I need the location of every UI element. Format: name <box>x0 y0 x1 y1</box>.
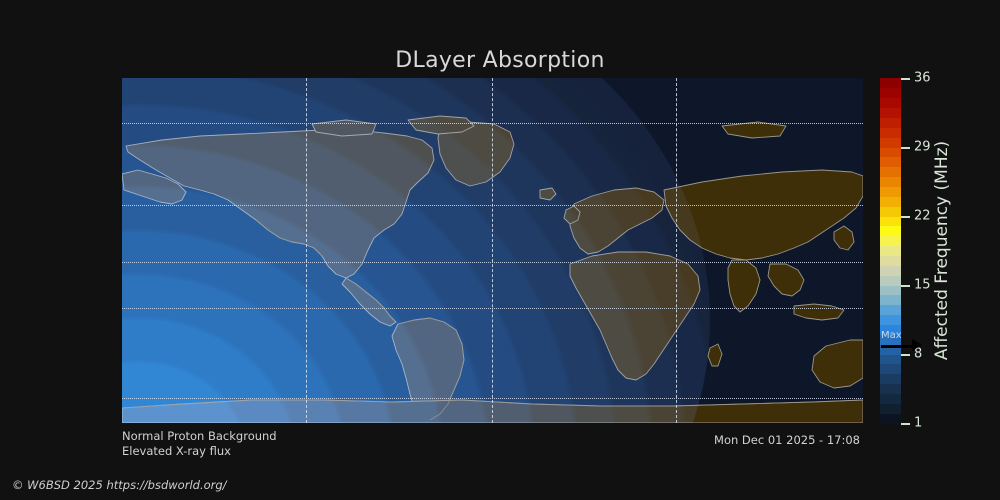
colorbar-tick-mark <box>901 147 910 149</box>
dlayer-absorption-map-page: DLayer Absorption <box>0 0 1000 500</box>
colorbar-tick-mark <box>901 423 910 425</box>
max-marker-arrow-head <box>912 339 922 351</box>
colorbar-tick-label: 1 <box>914 416 922 431</box>
max-marker-label: Max <box>881 330 902 341</box>
colorbar-tick-label: 22 <box>914 209 931 224</box>
copyright-notice[interactable]: © W6BSD 2025 https://bsdworld.org/ <box>12 478 227 492</box>
map-canvas <box>122 78 863 423</box>
colorbar-max-marker: Max <box>880 330 926 356</box>
colorbar-axis-title: Affected Frequency (MHz) <box>930 78 954 423</box>
page-title: DLayer Absorption <box>0 48 1000 73</box>
colorbar-tick-mark <box>901 216 910 218</box>
world-map[interactable] <box>122 78 863 423</box>
colorbar-tick-label: 29 <box>914 140 931 155</box>
status-proton-line: Normal Proton Background <box>122 429 277 444</box>
status-block: Normal Proton Background Elevated X-ray … <box>122 429 277 459</box>
colorbar-tick-mark <box>901 78 910 80</box>
timestamp: Mon Dec 01 2025 - 17:08 <box>460 433 860 447</box>
absorption-contours <box>122 78 710 423</box>
max-marker-arrow-shaft <box>881 345 915 348</box>
colorbar-tick-label: 15 <box>914 278 931 293</box>
colorbar-tick-label: 36 <box>914 71 931 86</box>
colorbar-tick-mark <box>901 285 910 287</box>
status-xray-line: Elevated X-ray flux <box>122 444 277 459</box>
